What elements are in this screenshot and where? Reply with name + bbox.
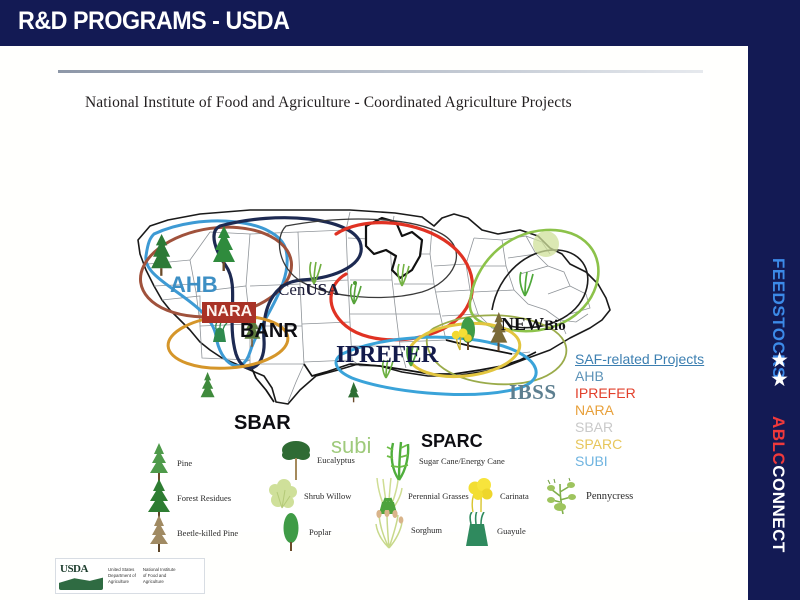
legend-item-forest-residues: Forest Residues	[146, 478, 231, 518]
usda-dept-line-3: Agriculture	[108, 579, 136, 585]
legend-item-sorghum: Sorghum	[372, 510, 442, 550]
carinata-flower-icon	[465, 478, 495, 514]
legend-item-carinata: Carinata	[465, 478, 529, 514]
legend-item-pennycress: Pennycress	[545, 476, 633, 516]
legend-label-beetle-killed-pine: Beetle-killed Pine	[177, 528, 238, 538]
legend-label-pine: Pine	[177, 458, 192, 468]
sidebar-brand-connect: CONNECT	[769, 465, 788, 553]
saf-legend-item-ahb: AHB	[575, 368, 704, 385]
usda-inst-line-3: Agriculture	[143, 579, 176, 585]
poplar-tree-icon	[278, 512, 304, 552]
slide-header: R&D PROGRAMS - USDA	[0, 0, 800, 46]
pennycress-icon	[545, 476, 581, 516]
legend-item-eucalyptus: Eucalyptus	[280, 438, 355, 482]
usda-institute-lines: National Institute of Food and Agricultu…	[143, 567, 176, 585]
legend-label-pennycress: Pennycress	[586, 491, 633, 502]
saf-legend-item-sbar: SBAR	[575, 419, 704, 436]
usda-seal-icon: USDA	[58, 561, 104, 591]
legend-label-perennial-grasses: Perennial Grasses	[408, 491, 469, 501]
legend-label-poplar: Poplar	[309, 527, 331, 537]
legend-item-beetle-killed-pine: Beetle-killed Pine	[146, 514, 238, 552]
legend-item-poplar: Poplar	[278, 512, 331, 552]
saf-legend-item-nara: NARA	[575, 402, 704, 419]
sidebar-brand-ablc: ABLC	[769, 416, 788, 465]
fir-tree-icon	[146, 478, 172, 518]
legend-label-forest-residues: Forest Residues	[177, 493, 231, 503]
saf-legend-heading: SAF-related Projects	[575, 351, 704, 368]
right-sidebar: FEEDSTOCKS ★ ★ ABLCCONNECT	[748, 0, 800, 600]
eucalyptus-tree-icon	[280, 438, 312, 482]
legend-label-eucalyptus: Eucalyptus	[317, 455, 355, 465]
legend-label-sorghum: Sorghum	[411, 525, 442, 535]
beetle-killed-pine-icon	[146, 514, 172, 552]
page-title: R&D PROGRAMS - USDA	[18, 7, 289, 36]
guayule-icon	[462, 512, 492, 550]
usda-landscape-icon	[59, 577, 103, 590]
figure-top-rule	[58, 70, 703, 73]
map-label-sbar: SBAR	[234, 412, 291, 435]
shrub-willow-icon	[265, 478, 299, 514]
usda-department-lines: United States Department of Agriculture	[108, 567, 136, 585]
plant-legend: Pine Eucalyptus Suga	[50, 436, 710, 551]
usda-wordmark: USDA	[60, 563, 88, 575]
legend-label-carinata: Carinata	[500, 491, 529, 501]
sidebar-stars: ★ ★	[770, 352, 789, 389]
legend-label-guayule: Guayule	[497, 526, 526, 536]
usda-agency-text: United States Department of Agriculture …	[104, 567, 176, 585]
map-title: National Institute of Food and Agricultu…	[85, 94, 572, 112]
map-figure: National Institute of Food and Agricultu…	[50, 70, 710, 532]
legend-label-sugar-cane: Sugar Cane/Energy Cane	[419, 456, 505, 466]
legend-item-guayule: Guayule	[462, 512, 526, 550]
slide: R&D PROGRAMS - USDA National Institute o…	[0, 0, 800, 600]
saf-legend-item-iprefer: IPREFER	[575, 385, 704, 402]
usda-logo: USDA United States Department of Agricul…	[55, 558, 205, 594]
legend-item-shrub-willow: Shrub Willow	[265, 478, 351, 514]
slide-content: National Institute of Food and Agricultu…	[0, 46, 750, 600]
sidebar-brand: ABLCCONNECT	[768, 416, 788, 553]
star-icon-2: ★	[770, 371, 789, 389]
legend-label-shrub-willow: Shrub Willow	[304, 491, 351, 501]
sorghum-icon	[372, 510, 406, 550]
